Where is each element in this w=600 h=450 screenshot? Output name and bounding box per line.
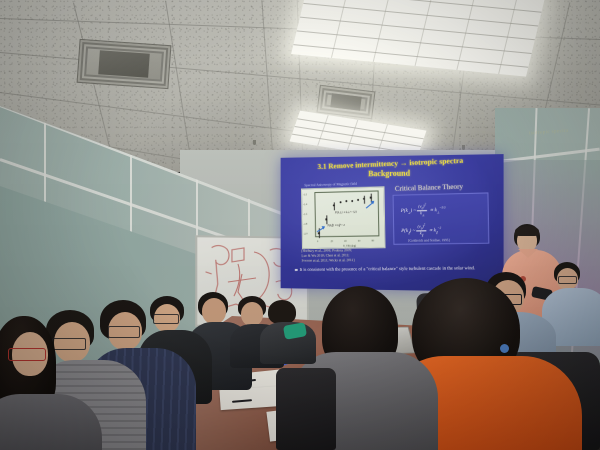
head <box>241 302 263 326</box>
hair <box>268 300 296 324</box>
ac-diffuser-icon <box>77 39 172 89</box>
slide-subtitle: Background <box>286 168 497 180</box>
plot-datapoint <box>370 197 372 199</box>
plot-xlabel: θ_VB (deg) <box>343 244 356 247</box>
red-glasses <box>8 348 46 361</box>
plot-datapoint <box>325 218 327 220</box>
plot-ytick: -1.4 <box>303 203 307 206</box>
plot-ytick: -1.6 <box>303 213 307 216</box>
slide-references: [Horbury et al., 2008; Podesta 2009; Luo… <box>301 248 354 264</box>
reference-line: Forman et al. 2011; Wicks et al. 2011] <box>302 259 355 265</box>
equation-box: P(k⊥) ~ (v0)2k⊥ ∝ k⊥−5/3 P(k∥) ~ (v0)2k∥… <box>393 192 490 244</box>
plot-xtick: 80 <box>372 239 375 242</box>
plot-xtick: 60 <box>358 240 361 243</box>
attendee-green-scarf <box>262 300 314 360</box>
slide-bullet-text: It is consistent with the presence of a … <box>300 265 476 272</box>
spectral-anisotropy-plot: -1.2 -1.4 -1.6 -1.8 -2.0 0 20 40 60 80 θ… <box>301 186 386 249</box>
presenter-fringe <box>515 226 539 236</box>
critical-balance-heading: Critical Balance Theory <box>395 182 463 192</box>
plot-ytick: -2.0 <box>304 232 308 235</box>
plot-ytick: -1.8 <box>303 223 307 226</box>
plot-xtick: 40 <box>344 240 347 243</box>
equation-perp: P(k⊥) ~ (v0)2k⊥ ∝ k⊥−5/3 <box>401 203 446 218</box>
meeting-room-photo: isotropic spectra 3.1 Re <box>0 0 600 450</box>
sprinkler-head-icon <box>253 140 256 145</box>
plot-ytick: -1.2 <box>303 193 307 196</box>
bullet-marker-icon <box>295 268 298 271</box>
plot-xtick: 0 <box>317 240 318 243</box>
plot-xtick: 20 <box>331 240 334 243</box>
equation-para: P(k∥) ~ (v0)2k∥ ∝ k∥−2 <box>401 223 441 238</box>
slide-bullet: It is consistent with the presence of a … <box>300 265 489 274</box>
office-chair <box>276 368 336 450</box>
plot-datapoint <box>318 232 320 234</box>
torso <box>0 394 102 450</box>
attendee-red-glasses-front-left <box>0 316 98 450</box>
earphone <box>500 344 509 353</box>
plot-annotation-perp: P(k⊥) ∝ k⊥^−5/3 <box>335 210 357 214</box>
equation-citation: [Goldreich and Sridhar, 1995] <box>408 238 449 243</box>
plot-annotation-para: P(k∥) ∝ k∥^−2 <box>327 223 344 227</box>
